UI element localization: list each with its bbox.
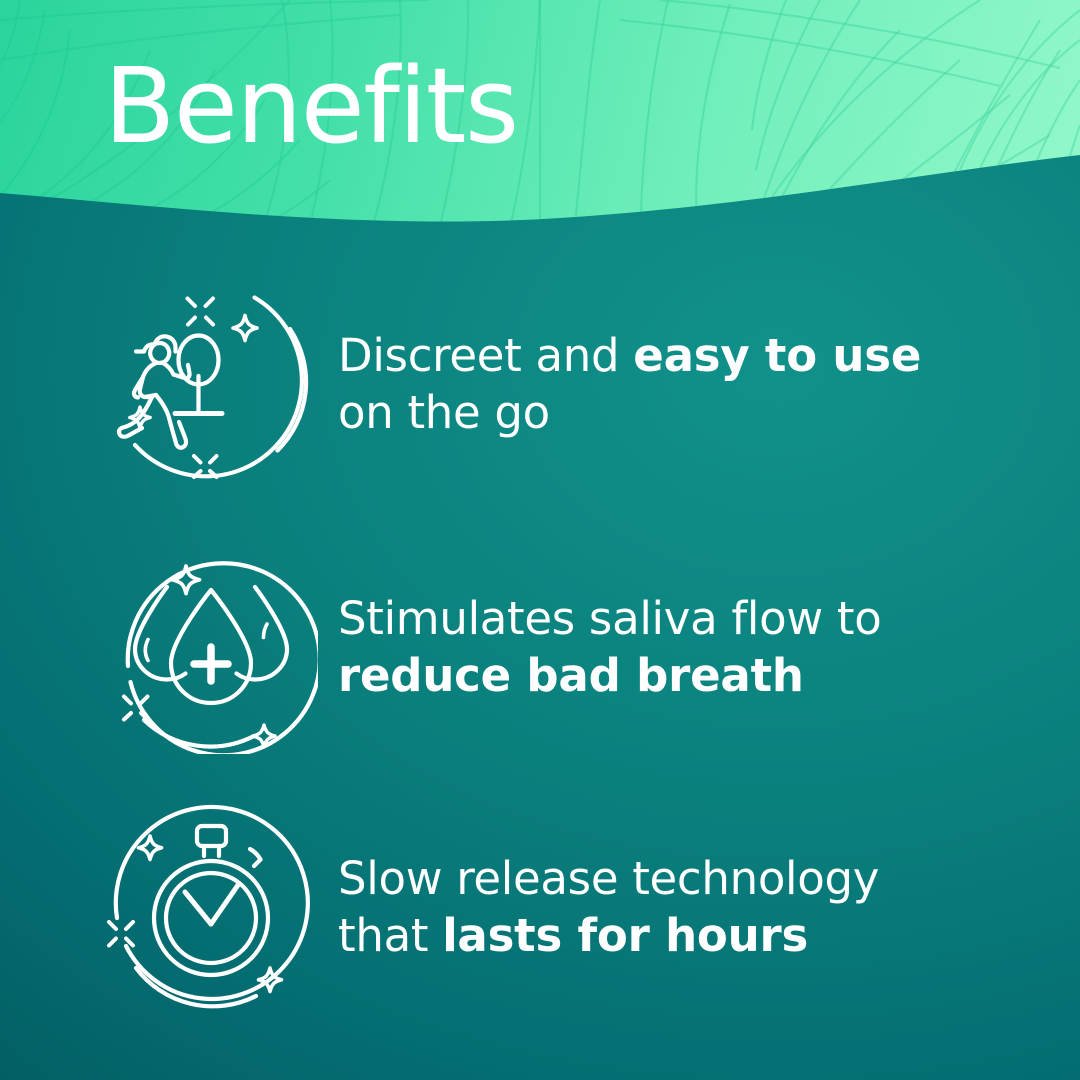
stopwatch-hands — [185, 885, 238, 924]
droplet-center-icon — [171, 590, 251, 703]
benefit-text: Discreet and easy to use on the go — [338, 327, 978, 441]
droplet-left-icon — [135, 587, 186, 680]
running-person-outdoors-icon — [104, 277, 318, 491]
stopwatch-icon — [104, 800, 318, 1014]
benefit-text: Stimulates saliva flow to reduce bad bre… — [338, 590, 978, 704]
stopwatch-side-button — [250, 849, 261, 866]
stopwatch-dial — [166, 873, 256, 963]
sparkle-x-icon — [194, 456, 217, 477]
benefit-icon-wrapper — [104, 277, 318, 491]
benefits-poster: Benefits — [0, 0, 1080, 1080]
benefit-text-bold: reduce bad breath — [338, 649, 804, 702]
benefit-text-lead: Discreet and — [338, 329, 633, 382]
plus-icon — [194, 647, 228, 681]
sparkle-x-icon — [188, 299, 214, 325]
benefit-row: Discreet and easy to use on the go — [104, 277, 984, 491]
benefit-row: Slow release technology that lasts for h… — [104, 800, 984, 1014]
benefit-row: Stimulates saliva flow to reduce bad bre… — [104, 540, 984, 754]
sparkle-diamond-icon — [173, 566, 200, 594]
benefit-text-tail: on the go — [338, 386, 550, 439]
benefit-text: Slow release technology that lasts for h… — [338, 850, 978, 964]
page-title: Benefits — [104, 52, 518, 161]
droplet-right-icon — [237, 587, 288, 680]
stopwatch-crown — [197, 826, 226, 856]
stopwatch-case — [154, 861, 268, 975]
benefit-icon-wrapper — [104, 800, 318, 1014]
benefit-text-lead: Stimulates saliva flow to — [338, 592, 881, 645]
sparkle-diamond-icon — [233, 316, 257, 341]
benefit-text-bold: lasts for hours — [442, 909, 808, 962]
tree-icon — [175, 336, 222, 414]
benefit-text-bold: easy to use — [633, 329, 921, 382]
sparkle-x-icon — [109, 922, 133, 946]
water-droplets-plus-icon — [104, 540, 318, 754]
benefit-icon-wrapper — [104, 540, 318, 754]
